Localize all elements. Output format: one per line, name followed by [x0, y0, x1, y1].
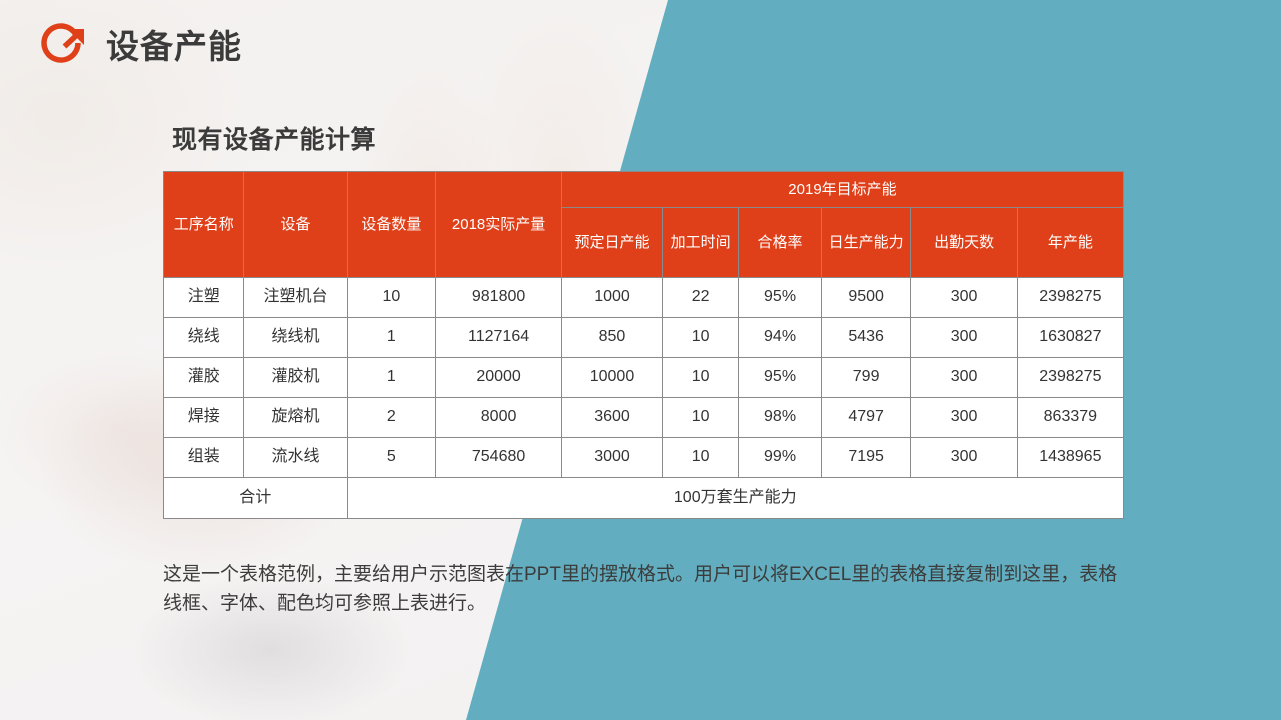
cell-planned-daily-capacity: 10000: [561, 358, 662, 398]
cell-actual-output-2018: 20000: [436, 358, 562, 398]
cell-processing-time: 10: [663, 438, 739, 478]
cell-pass-rate: 95%: [739, 358, 821, 398]
cell-actual-output-2018: 754680: [436, 438, 562, 478]
table-row: 注塑 注塑机台 10 981800 1000 22 95% 9500 300 2…: [164, 278, 1124, 318]
cell-equipment: 绕线机: [244, 318, 347, 358]
cell-process-name: 灌胶: [164, 358, 244, 398]
cell-pass-rate: 98%: [739, 398, 821, 438]
cell-annual-capacity: 2398275: [1017, 358, 1123, 398]
table-body: 注塑 注塑机台 10 981800 1000 22 95% 9500 300 2…: [164, 278, 1124, 519]
cell-actual-output-2018: 981800: [436, 278, 562, 318]
cell-equipment: 注塑机台: [244, 278, 347, 318]
cell-equipment-count: 2: [347, 398, 436, 438]
cell-pass-rate: 99%: [739, 438, 821, 478]
table-header-daily-production-capacity: 日生产能力: [821, 208, 911, 278]
cell-annual-capacity: 1630827: [1017, 318, 1123, 358]
cell-processing-time: 10: [663, 358, 739, 398]
circular-arrow-icon: [40, 21, 90, 71]
cell-planned-daily-capacity: 3600: [561, 398, 662, 438]
cell-working-days: 300: [911, 398, 1017, 438]
cell-planned-daily-capacity: 850: [561, 318, 662, 358]
cell-equipment-count: 1: [347, 358, 436, 398]
cell-pass-rate: 95%: [739, 278, 821, 318]
table-row: 绕线 绕线机 1 1127164 850 10 94% 5436 300 163…: [164, 318, 1124, 358]
cell-working-days: 300: [911, 438, 1017, 478]
cell-process-name: 绕线: [164, 318, 244, 358]
table-head: 工序名称 设备 设备数量 2018实际产量 2019年目标产能 预定日产能 加工…: [164, 172, 1124, 278]
table-header-group-2019-target: 2019年目标产能: [561, 172, 1123, 208]
table-row: 焊接 旋熔机 2 8000 3600 10 98% 4797 300 86337…: [164, 398, 1124, 438]
cell-equipment-count: 1: [347, 318, 436, 358]
cell-working-days: 300: [911, 278, 1017, 318]
table-header-processing-time: 加工时间: [663, 208, 739, 278]
body-paragraph: 这是一个表格范例，主要给用户示范图表在PPT里的摆放格式。用户可以将EXCEL里…: [163, 560, 1121, 619]
table-header-annual-capacity: 年产能: [1017, 208, 1123, 278]
cell-processing-time: 22: [663, 278, 739, 318]
cell-daily-production-capacity: 7195: [821, 438, 911, 478]
table-header-row-top: 工序名称 设备 设备数量 2018实际产量 2019年目标产能: [164, 172, 1124, 208]
cell-working-days: 300: [911, 318, 1017, 358]
cell-working-days: 300: [911, 358, 1017, 398]
section-heading: 现有设备产能计算: [172, 120, 376, 156]
capacity-table-container: 工序名称 设备 设备数量 2018实际产量 2019年目标产能 预定日产能 加工…: [163, 171, 1124, 519]
cell-process-name: 组装: [164, 438, 244, 478]
cell-total-label: 合计: [164, 478, 348, 519]
cell-actual-output-2018: 8000: [436, 398, 562, 438]
cell-daily-production-capacity: 4797: [821, 398, 911, 438]
slide-header: 设备产能: [0, 0, 242, 92]
cell-annual-capacity: 863379: [1017, 398, 1123, 438]
capacity-table: 工序名称 设备 设备数量 2018实际产量 2019年目标产能 预定日产能 加工…: [163, 171, 1124, 519]
cell-daily-production-capacity: 5436: [821, 318, 911, 358]
table-header-actual-output-2018: 2018实际产量: [436, 172, 562, 278]
table-row: 灌胶 灌胶机 1 20000 10000 10 95% 799 300 2398…: [164, 358, 1124, 398]
slide-canvas: 设备产能 现有设备产能计算 工序名称 设备 设备数量 2018实际产量 2019…: [0, 0, 1281, 720]
cell-annual-capacity: 2398275: [1017, 278, 1123, 318]
table-header-equipment: 设备: [244, 172, 347, 278]
cell-planned-daily-capacity: 1000: [561, 278, 662, 318]
table-header-equipment-count: 设备数量: [347, 172, 436, 278]
page-title: 设备产能: [106, 30, 242, 63]
cell-equipment: 流水线: [244, 438, 347, 478]
cell-processing-time: 10: [663, 398, 739, 438]
cell-actual-output-2018: 1127164: [436, 318, 562, 358]
cell-pass-rate: 94%: [739, 318, 821, 358]
cell-annual-capacity: 1438965: [1017, 438, 1123, 478]
cell-planned-daily-capacity: 3000: [561, 438, 662, 478]
cell-processing-time: 10: [663, 318, 739, 358]
table-row: 组装 流水线 5 754680 3000 10 99% 7195 300 143…: [164, 438, 1124, 478]
cell-equipment-count: 10: [347, 278, 436, 318]
table-header-planned-daily-capacity: 预定日产能: [561, 208, 662, 278]
cell-equipment-count: 5: [347, 438, 436, 478]
cell-daily-production-capacity: 799: [821, 358, 911, 398]
table-total-row: 合计 100万套生产能力: [164, 478, 1124, 519]
table-header-process-name: 工序名称: [164, 172, 244, 278]
cell-process-name: 注塑: [164, 278, 244, 318]
table-header-working-days: 出勤天数: [911, 208, 1017, 278]
cell-equipment: 灌胶机: [244, 358, 347, 398]
cell-total-value: 100万套生产能力: [347, 478, 1123, 519]
table-header-pass-rate: 合格率: [739, 208, 821, 278]
cell-daily-production-capacity: 9500: [821, 278, 911, 318]
cell-process-name: 焊接: [164, 398, 244, 438]
cell-equipment: 旋熔机: [244, 398, 347, 438]
